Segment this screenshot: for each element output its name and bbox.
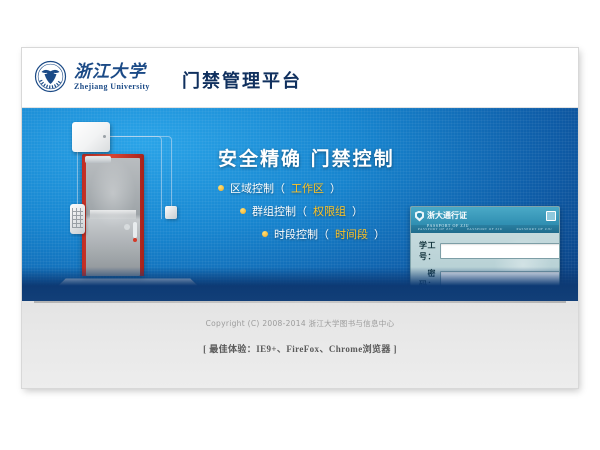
keypad-reader-icon	[70, 204, 85, 234]
banner-slogan: 安全精确 门禁控制	[218, 144, 395, 171]
door-closer-icon	[85, 156, 111, 163]
access-controller-box-icon	[72, 122, 110, 152]
student-id-input[interactable]	[440, 243, 560, 259]
door-knob-icon	[124, 224, 130, 230]
watermark-text: PASSPORT OF ZJU	[418, 227, 454, 231]
site-footer: Copyright (C) 2008-2014 浙江大学图书与信息中心 [ 最佳…	[22, 301, 578, 388]
watermark-text: PASSPORT OF ZJU	[467, 227, 503, 231]
door-highlight-band	[90, 210, 136, 219]
university-logo[interactable]: 浙江大学 Zhejiang University	[34, 60, 150, 93]
card-reader-icon	[165, 206, 177, 219]
feature-highlight: 时间段	[335, 226, 368, 242]
wire-to-keypad	[77, 151, 79, 205]
door-panel	[86, 158, 140, 276]
shield-icon	[415, 211, 424, 222]
bullet-dot-icon	[262, 231, 268, 237]
feature-highlight: 权限组	[313, 203, 346, 219]
copyright-text: Copyright (C) 2008-2014 浙江大学图书与信息中心	[22, 301, 578, 329]
feature-tail: ）	[330, 180, 341, 196]
zju-seal-icon	[34, 60, 67, 93]
feature-label: 区域控制（	[230, 180, 285, 196]
student-id-row: 学工号：	[419, 240, 551, 262]
brand-name-en: Zhejiang University	[74, 83, 150, 91]
feature-list: 区域控制（工作区） 群组控制（权限组） 时段控制（时间段）	[218, 180, 385, 249]
window-restore-icon[interactable]	[546, 211, 556, 221]
controller-led-icon	[103, 135, 106, 138]
hero-banner: 安全精确 门禁控制 区域控制（工作区） 群组控制（权限组） 时段控制（时间段） …	[22, 108, 578, 301]
door-handle-icon	[133, 222, 137, 238]
bullet-dot-icon	[218, 185, 224, 191]
login-panel-subtitle: PASSPORT OF ZJU	[427, 224, 469, 228]
site-header: 浙江大学 Zhejiang University 门禁管理平台	[22, 48, 578, 108]
feature-highlight: 工作区	[291, 180, 324, 196]
password-row: 密 码：	[419, 268, 551, 290]
access-control-illustration	[52, 118, 202, 296]
brand-name-cn: 浙江大学	[74, 63, 150, 80]
login-panel: 浙大通行证 PASSPORT OF ZJU PASSPORT OF ZJU PA…	[410, 206, 560, 301]
bullet-dot-icon	[240, 208, 246, 214]
browser-support-text: [ 最佳体验：IE9+、FireFox、Chrome浏览器 ]	[22, 329, 578, 355]
watermark-text: PASSPORT OF ZJU	[517, 227, 553, 231]
feature-tail: ）	[374, 226, 385, 242]
login-form: 学工号： 密 码： 登录 登录添加 校园卡密码登录	[411, 233, 559, 301]
security-door-icon	[82, 154, 144, 276]
password-input[interactable]	[440, 271, 560, 287]
feature-label: 时段控制（	[274, 226, 329, 242]
feature-tail: ）	[352, 203, 363, 219]
login-panel-title: 浙大通行证	[427, 211, 467, 220]
list-item: 时段控制（时间段）	[262, 226, 385, 242]
door-status-led-icon	[133, 238, 137, 242]
feature-label: 群组控制（	[252, 203, 307, 219]
keypad-keys	[72, 208, 83, 228]
footer-top-edge	[34, 301, 566, 303]
list-item: 区域控制（工作区）	[218, 180, 385, 196]
login-panel-header: 浙大通行证 PASSPORT OF ZJU	[411, 207, 559, 225]
app-page: 浙江大学 Zhejiang University 门禁管理平台	[22, 48, 578, 388]
student-id-label: 学工号：	[419, 240, 440, 262]
page-title: 门禁管理平台	[182, 67, 302, 93]
list-item: 群组控制（权限组）	[240, 203, 385, 219]
password-label: 密 码：	[419, 268, 440, 290]
floor-plate	[53, 279, 202, 291]
